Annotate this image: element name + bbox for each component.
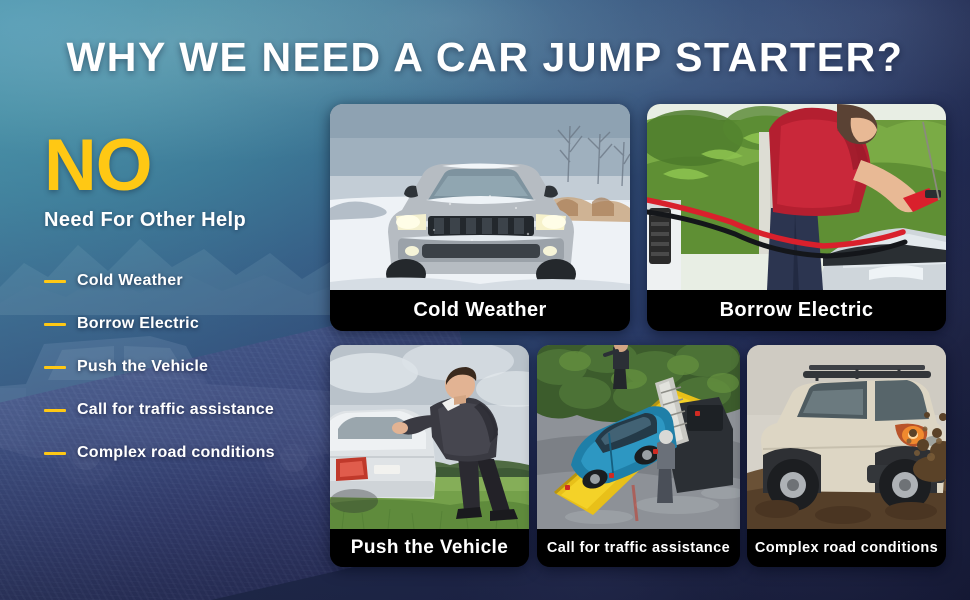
list-item-label: Complex road conditions xyxy=(77,444,275,462)
left-panel: NO Need For Other Help Cold Weather Borr… xyxy=(44,132,344,478)
card-caption: Call for traffic assistance xyxy=(537,529,740,567)
card-caption: Borrow Electric xyxy=(647,290,946,331)
card-push-the-vehicle: Push the Vehicle xyxy=(330,345,529,567)
list-item-label: Push the Vehicle xyxy=(77,358,208,376)
card-complex-road-conditions: Complex road conditions xyxy=(747,345,946,567)
card-caption: Complex road conditions xyxy=(747,529,946,567)
card-call-for-traffic-assistance: Call for traffic assistance xyxy=(537,345,740,567)
photo-man-pushing-car xyxy=(330,345,529,529)
headline-no: NO xyxy=(44,132,344,201)
dash-icon xyxy=(44,409,66,412)
dash-icon xyxy=(44,323,66,326)
list-item: Cold Weather xyxy=(44,263,344,300)
photo-tow-truck xyxy=(537,345,740,529)
benefit-list: Cold Weather Borrow Electric Push the Ve… xyxy=(44,263,344,472)
list-item-label: Cold Weather xyxy=(77,272,183,290)
card-caption: Push the Vehicle xyxy=(330,529,529,567)
poster-canvas: WHY WE NEED A CAR JUMP STARTER? NO Need … xyxy=(0,0,970,600)
photo-snow-covered-suv xyxy=(330,104,630,290)
subheadline: Need For Other Help xyxy=(44,209,344,232)
list-item-label: Borrow Electric xyxy=(77,315,199,333)
list-item: Push the Vehicle xyxy=(44,349,344,386)
dash-icon xyxy=(44,280,66,283)
card-borrow-electric: Borrow Electric xyxy=(647,104,946,331)
photo-offroad-suv-mud xyxy=(747,345,946,529)
list-item: Complex road conditions xyxy=(44,435,344,472)
list-item: Borrow Electric xyxy=(44,306,344,343)
list-item-label: Call for traffic assistance xyxy=(77,401,274,419)
card-cold-weather: Cold Weather xyxy=(330,104,630,331)
card-caption: Cold Weather xyxy=(330,290,630,331)
dash-icon xyxy=(44,452,66,455)
dash-icon xyxy=(44,366,66,369)
photo-jumper-cables xyxy=(647,104,946,290)
page-title: WHY WE NEED A CAR JUMP STARTER? xyxy=(0,34,970,81)
list-item: Call for traffic assistance xyxy=(44,392,344,429)
